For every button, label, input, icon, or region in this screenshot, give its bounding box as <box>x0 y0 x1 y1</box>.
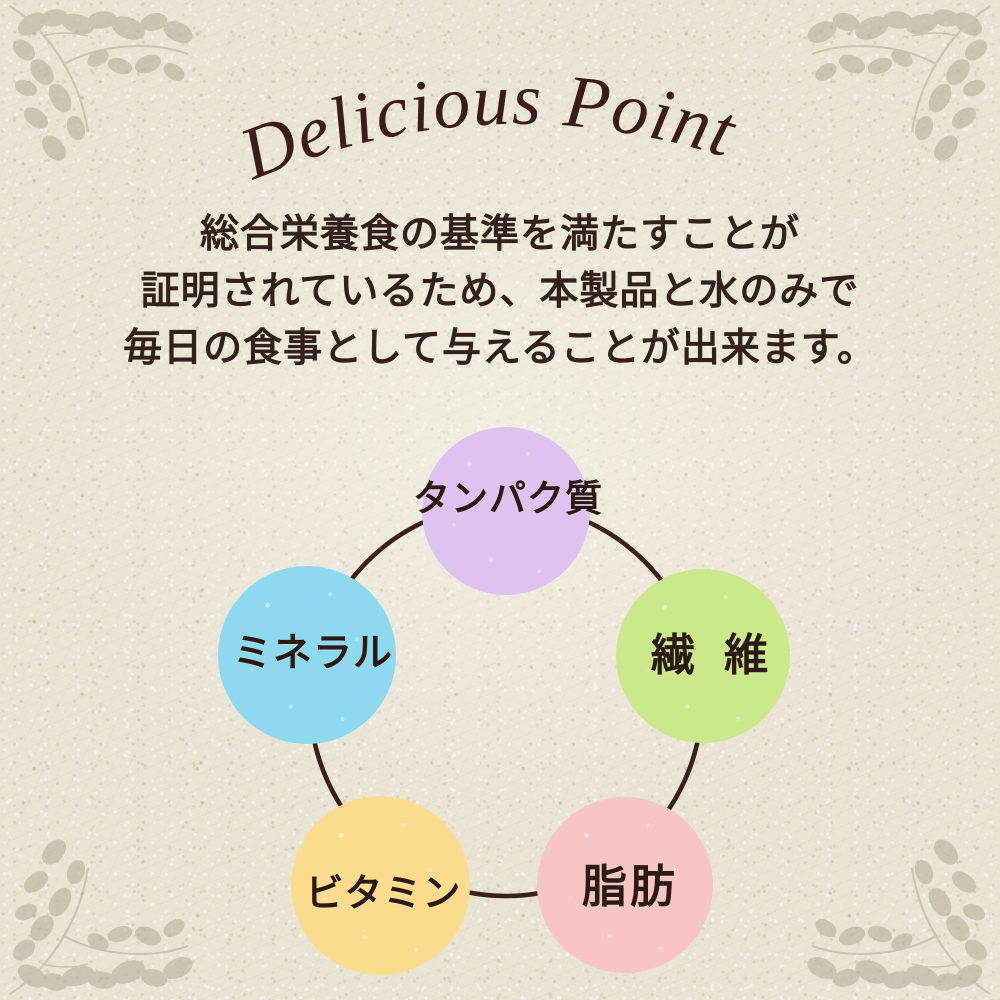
nutrient-label-mineral: ミネラル <box>233 634 393 673</box>
nutrient-bubble-mineral[interactable]: ミネラル <box>218 566 396 744</box>
nutrient-ring-diagram: タンパク質 繊 維 脂肪 ビタミン ミネラル <box>0 0 1000 1000</box>
delicious-points-panel: Delicious Points 総合栄養食の基準を満たすことが 証明されている… <box>0 0 1000 1000</box>
nutrient-bubble-protein[interactable]: タンパク質 <box>422 427 590 595</box>
nutrient-label-protein: タンパク質 <box>413 480 603 517</box>
nutrient-bubble-vitamin[interactable]: ビタミン <box>291 796 470 975</box>
nutrient-label-vitamin: ビタミン <box>305 874 461 912</box>
nutrient-label-fiber: 繊 維 <box>651 634 775 678</box>
nutrient-bubble-fiber[interactable]: 繊 維 <box>616 569 790 743</box>
nutrient-label-fat: 脂肪 <box>582 864 678 909</box>
nutrient-bubble-fat[interactable]: 脂肪 <box>537 797 713 973</box>
